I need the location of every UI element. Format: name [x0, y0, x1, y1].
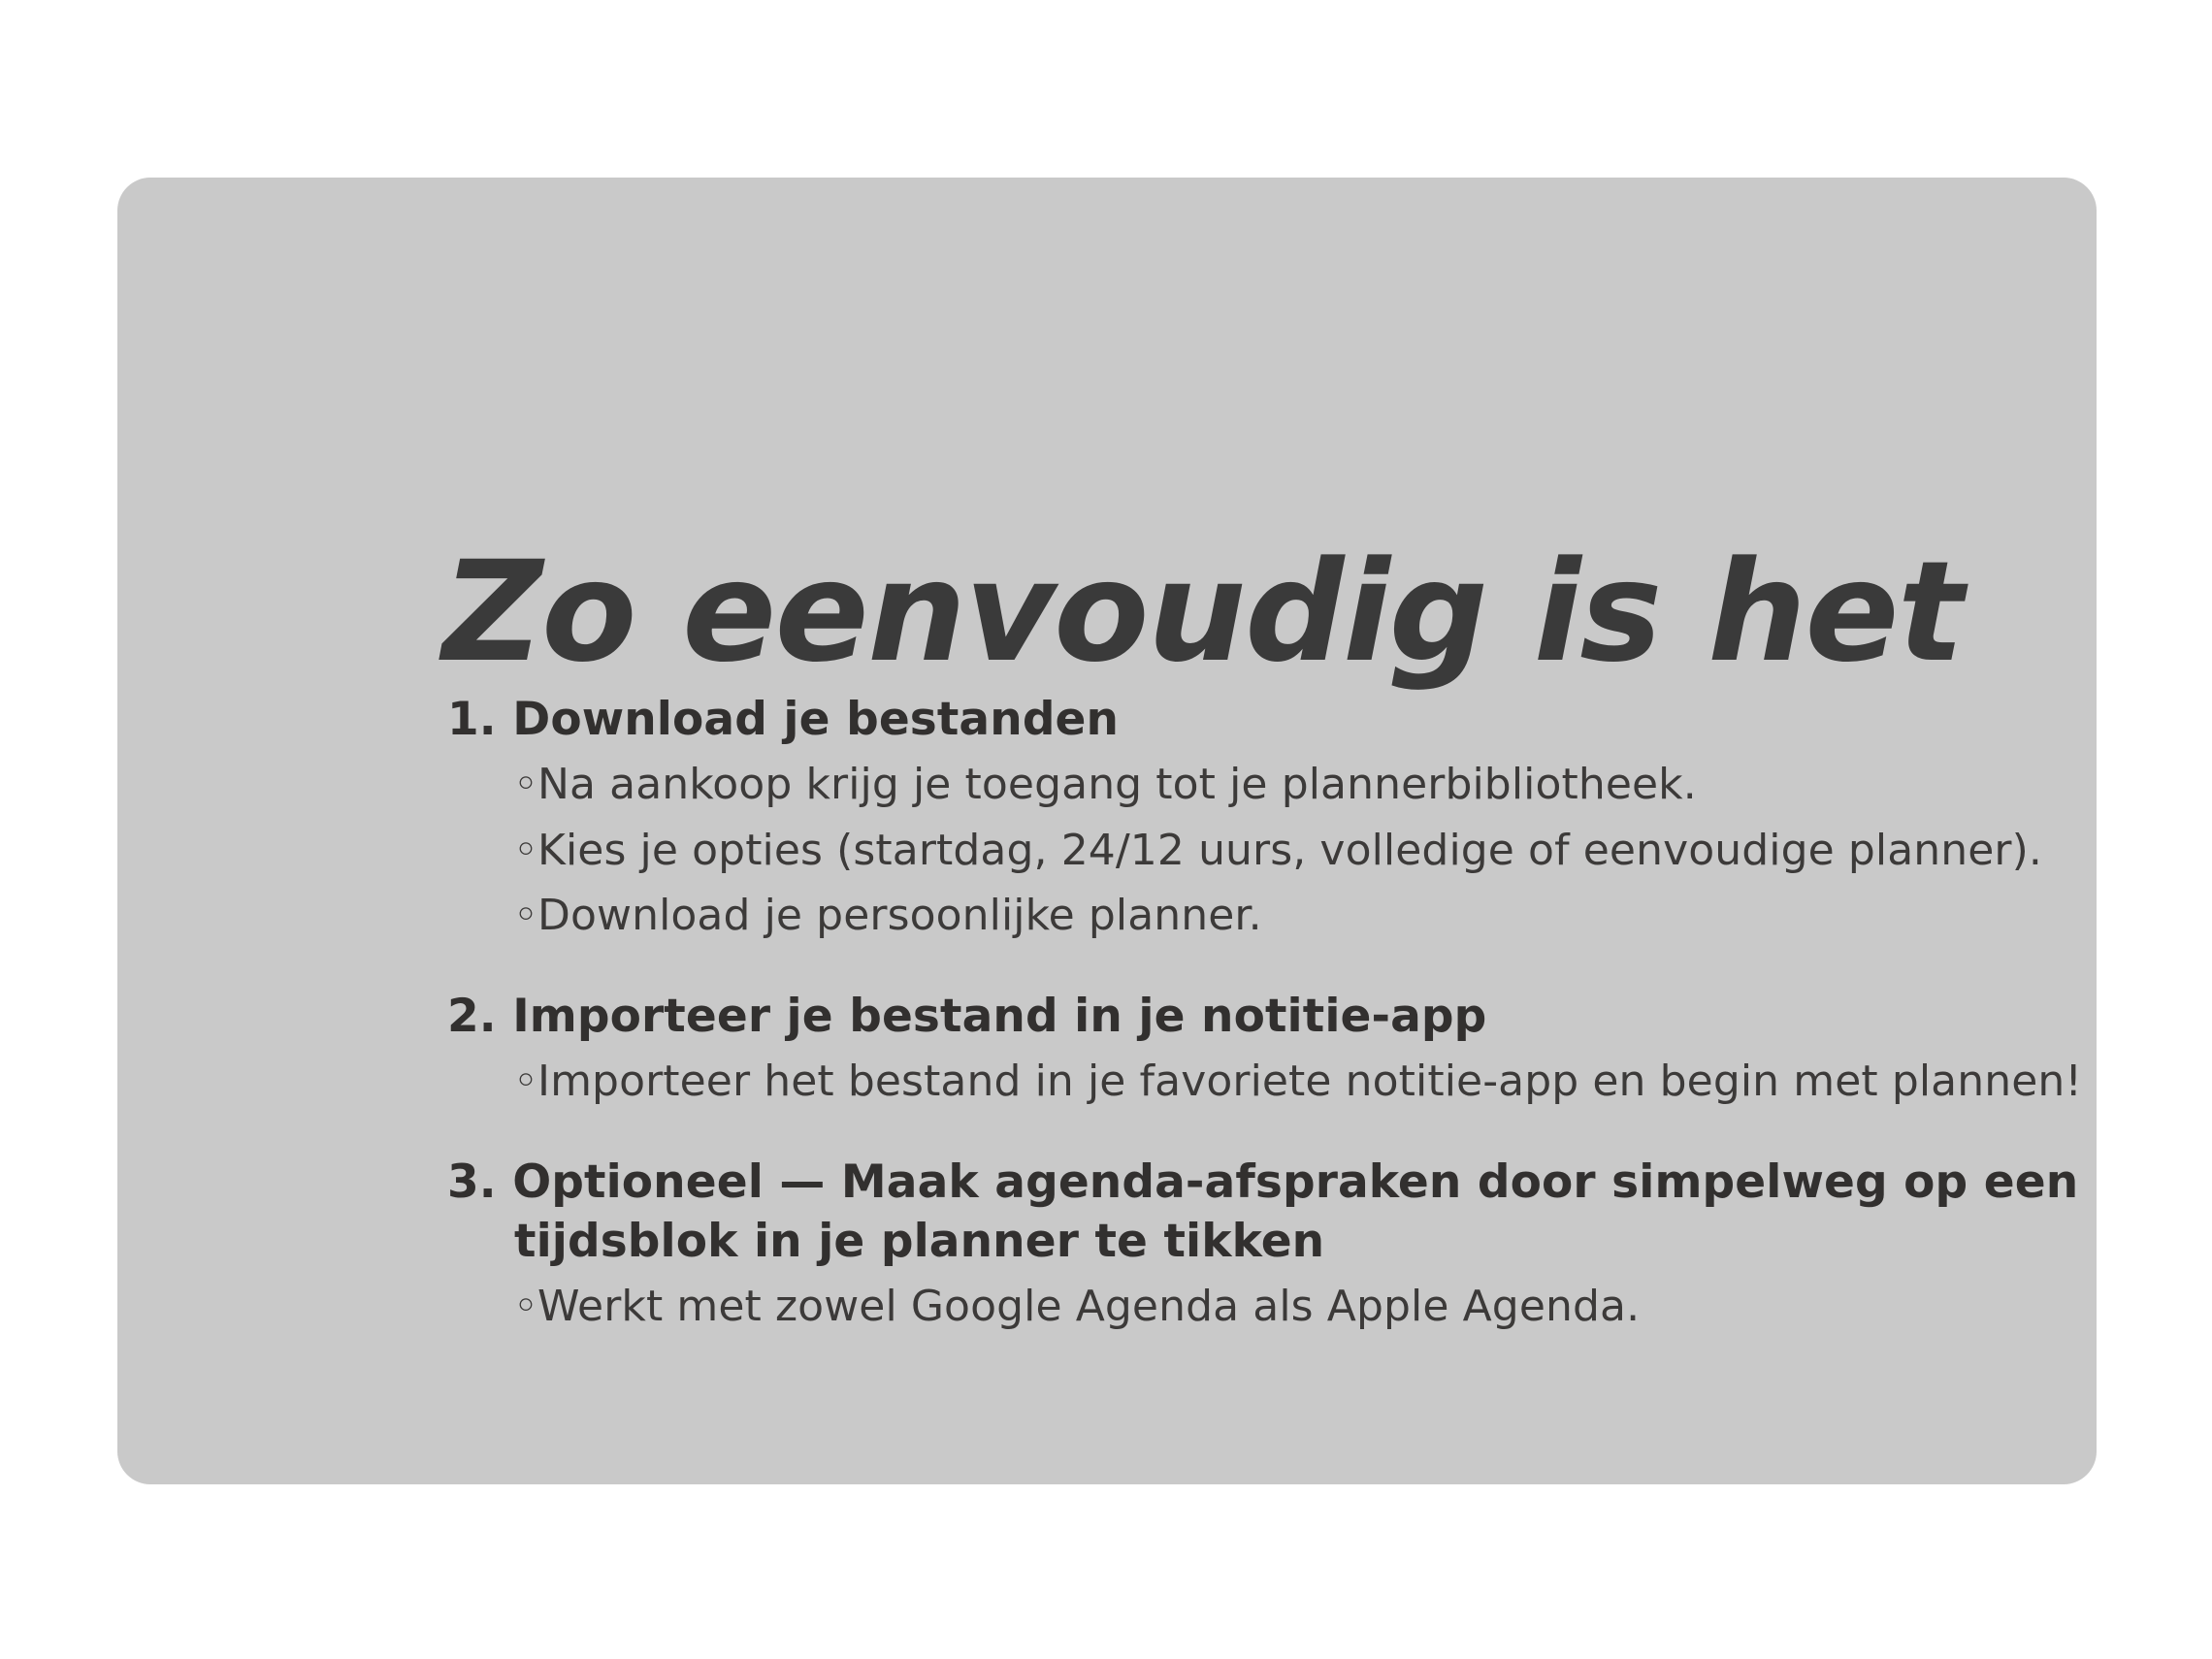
- slide-root: Zo eenvoudig is het 1. Download je besta…: [0, 0, 2212, 1659]
- content-card: Zo eenvoudig is het 1. Download je besta…: [117, 178, 2097, 1484]
- list-item-label: Importeer het bestand in je favoriete no…: [537, 1057, 2082, 1106]
- bullet-circle-icon: ◦: [513, 825, 538, 877]
- step-bullets: ◦ Na aankoop krijg je toegang tot je pla…: [447, 759, 2116, 942]
- page-title: Zo eenvoudig is het: [442, 542, 1963, 681]
- step-heading: 3. Optioneel — Maak agenda-afspraken doo…: [447, 1153, 2116, 1271]
- bullet-circle-icon: ◦: [513, 1056, 538, 1108]
- list-item-label: Download je persoonlijke planner.: [537, 891, 1262, 940]
- step-bullets: ◦ Importeer het bestand in je favoriete …: [447, 1056, 2116, 1108]
- bullet-circle-icon: ◦: [513, 1281, 538, 1333]
- steps-list: 1. Download je bestanden ◦ Na aankoop kr…: [447, 690, 2116, 1333]
- step-heading: 1. Download je bestanden: [447, 690, 2116, 749]
- list-item: ◦ Werkt met zowel Google Agenda als Appl…: [447, 1281, 2116, 1333]
- step-item: 3. Optioneel — Maak agenda-afspraken doo…: [447, 1153, 2116, 1333]
- bullet-circle-icon: ◦: [513, 759, 538, 811]
- list-item: ◦ Na aankoop krijg je toegang tot je pla…: [447, 759, 2116, 811]
- step-bullets: ◦ Werkt met zowel Google Agenda als Appl…: [447, 1281, 2116, 1333]
- bullet-circle-icon: ◦: [513, 890, 538, 942]
- list-item: ◦ Importeer het bestand in je favoriete …: [447, 1056, 2116, 1108]
- step-item: 1. Download je bestanden ◦ Na aankoop kr…: [447, 690, 2116, 942]
- step-item: 2. Importeer je bestand in je notitie-ap…: [447, 987, 2116, 1108]
- list-item-label: Werkt met zowel Google Agenda als Apple …: [537, 1282, 1640, 1331]
- list-item: ◦ Download je persoonlijke planner.: [447, 890, 2116, 942]
- list-item-label: Na aankoop krijg je toegang tot je plann…: [537, 760, 1697, 809]
- list-item: ◦ Kies je opties (startdag, 24/12 uurs, …: [447, 825, 2116, 877]
- step-heading: 2. Importeer je bestand in je notitie-ap…: [447, 987, 2116, 1046]
- list-item-label: Kies je opties (startdag, 24/12 uurs, vo…: [537, 826, 2042, 875]
